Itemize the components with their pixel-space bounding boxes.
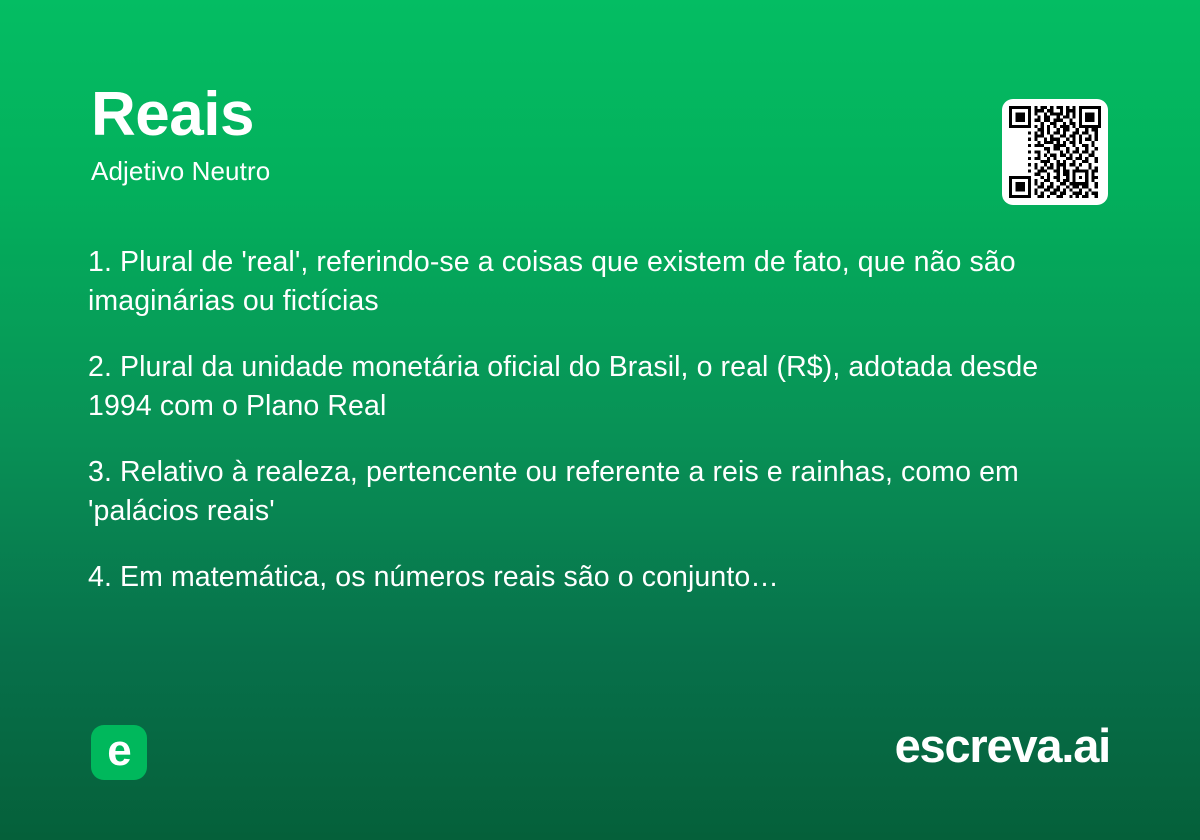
dictionary-card: Reais Adjetivo Neutro bbox=[0, 0, 1200, 840]
escreva-logo-badge: e bbox=[91, 725, 147, 780]
definition-item: 3. Relativo à realeza, pertencente ou re… bbox=[88, 453, 1093, 531]
page-title: Reais bbox=[91, 84, 1109, 146]
card-header: Reais Adjetivo Neutro bbox=[91, 84, 1109, 187]
word-class-subtitle: Adjetivo Neutro bbox=[91, 156, 1109, 187]
logo-letter: e bbox=[107, 729, 130, 773]
definition-item: 4. Em matemática, os números reais são o… bbox=[88, 558, 1093, 597]
qr-code-icon bbox=[1009, 106, 1101, 198]
definition-item: 2. Plural da unidade monetária oficial d… bbox=[88, 348, 1093, 426]
definitions-list: 1. Plural de 'real', referindo-se a cois… bbox=[88, 243, 1093, 597]
definition-item: 1. Plural de 'real', referindo-se a cois… bbox=[88, 243, 1093, 321]
brand-wordmark: escreva.ai bbox=[895, 722, 1110, 769]
qr-code-container[interactable] bbox=[1002, 99, 1108, 205]
